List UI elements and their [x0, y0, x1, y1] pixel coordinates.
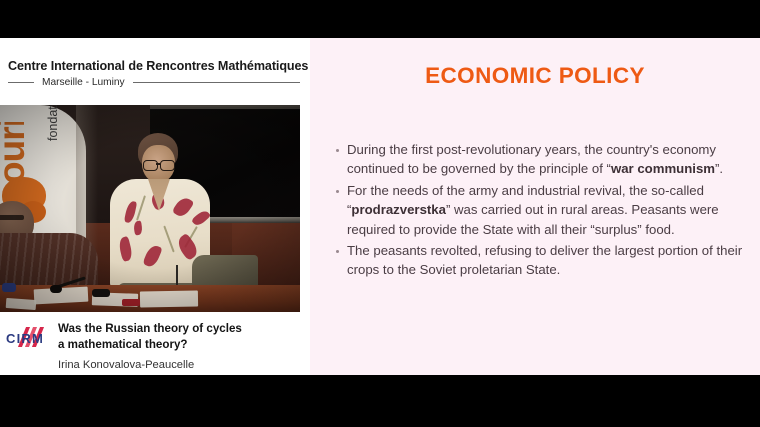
divider-left	[8, 82, 34, 83]
slide-bullet-text: The peasants revolted, refusing to deliv…	[347, 241, 748, 280]
talk-caption-card: CIRM Was the Russian theory of cycles a …	[0, 312, 310, 375]
cirm-logo-text: CIRM	[6, 331, 44, 346]
video-player-frame: Centre International de Rencontres Mathé…	[0, 0, 760, 427]
bullet-dot-icon	[336, 190, 339, 193]
bullet-text-run: ”.	[715, 161, 723, 176]
institution-subtitle-row: Marseille - Luminy	[0, 77, 310, 88]
bullet-dot-icon	[336, 149, 339, 152]
emphasis-term: war communism	[611, 161, 715, 176]
emphasis-term: prodrazverstka	[351, 202, 446, 217]
video-still[interactable]: ourir fondation	[0, 105, 300, 312]
slide-title: ECONOMIC POLICY	[310, 63, 760, 89]
caption-text-block: Was the Russian theory of cycles a mathe…	[58, 321, 250, 371]
bullet-dot-icon	[336, 250, 339, 253]
talk-title: Was the Russian theory of cycles a mathe…	[58, 321, 242, 354]
video-column: Centre International de Rencontres Mathé…	[0, 38, 310, 375]
talk-title-line-2: a mathematical theory?	[58, 338, 188, 351]
cirm-logo-icon: CIRM	[6, 325, 50, 351]
institution-header: Centre International de Rencontres Mathé…	[0, 55, 310, 105]
presentation-slide: ECONOMIC POLICY During the first post-re…	[310, 38, 760, 375]
video-vignette	[0, 105, 300, 312]
institution-title: Centre International de Rencontres Mathé…	[0, 59, 310, 73]
slide-bullet: During the first post-revolutionary year…	[336, 140, 748, 179]
slide-bullet: For the needs of the army and industrial…	[336, 181, 748, 239]
slide-bullet-text: For the needs of the army and industrial…	[347, 181, 748, 239]
bullet-text-run: The peasants revolted, refusing to deliv…	[347, 243, 742, 277]
slide-bullet-text: During the first post-revolutionary year…	[347, 140, 748, 179]
slide-bullet: The peasants revolted, refusing to deliv…	[336, 241, 748, 280]
divider-right	[133, 82, 300, 83]
institution-subtitle: Marseille - Luminy	[42, 77, 125, 88]
talk-title-line-1: Was the Russian theory of cycles	[58, 322, 242, 335]
slide-bullet-list: During the first post-revolutionary year…	[336, 140, 748, 282]
speaker-name: Irina Konovalova-Peaucelle	[58, 359, 242, 371]
content-band: Centre International de Rencontres Mathé…	[0, 38, 760, 375]
